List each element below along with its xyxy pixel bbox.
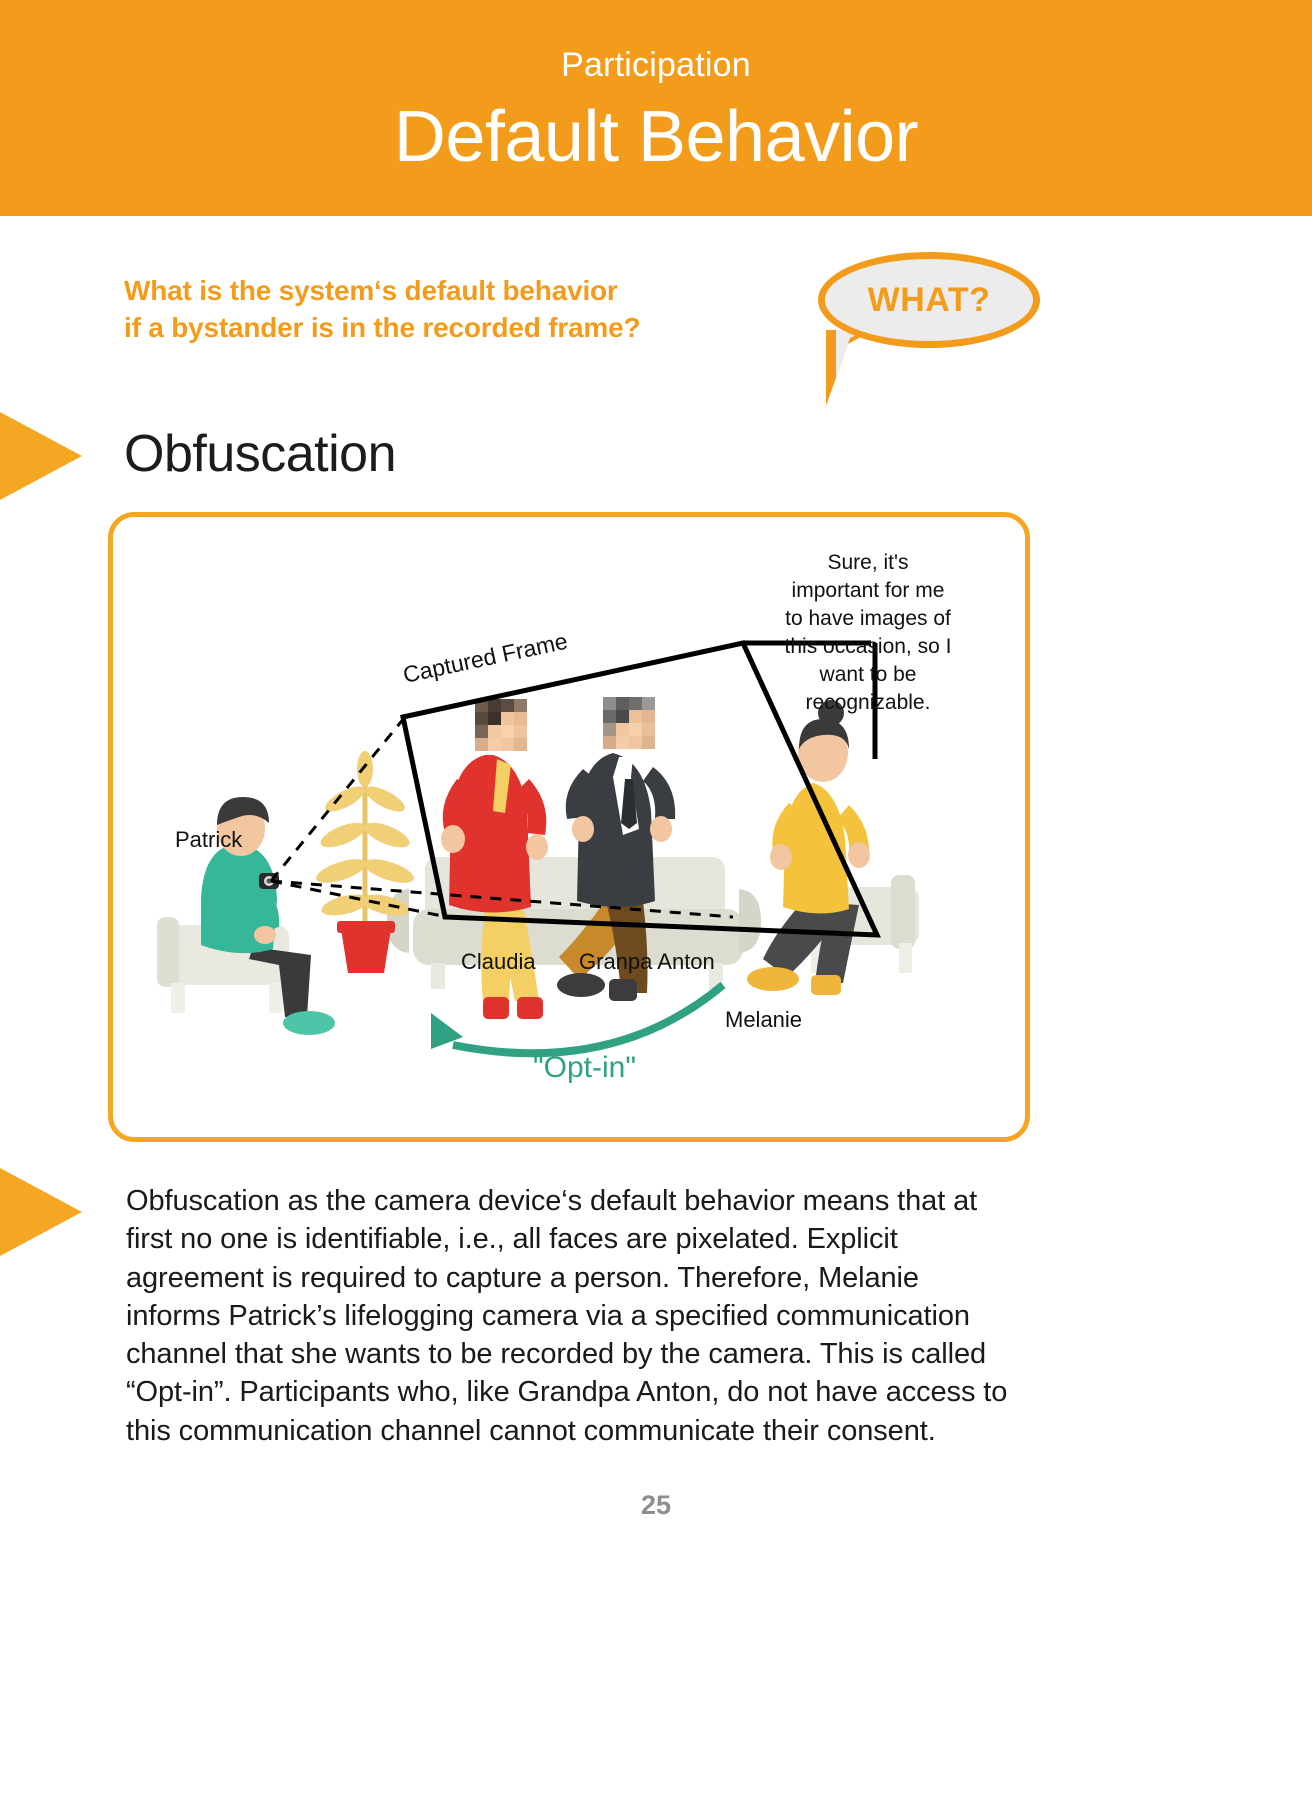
section-heading: Obfuscation — [124, 424, 396, 484]
speech-line-1: Sure, it's — [827, 551, 908, 574]
header-eyebrow: Participation — [561, 48, 751, 82]
page-title: Default Behavior — [394, 100, 918, 176]
question-block: What is the system‘s default behavior if… — [124, 272, 824, 346]
pixelated-face-anton — [603, 697, 655, 749]
body-arrow-icon — [0, 1168, 82, 1256]
page-header: Participation Default Behavior — [0, 0, 1312, 216]
captured-frame-label: Captured Frame — [401, 628, 570, 688]
speech-line-6: recognizable. — [806, 691, 931, 714]
what-speech-bubble: WHAT? — [818, 252, 1040, 348]
what-bubble-label: WHAT? — [868, 281, 991, 320]
section-arrow-icon — [0, 412, 82, 500]
scene-illustration: Captured Frame Sure, it's important for … — [113, 517, 1025, 1137]
opt-in-label: "Opt-in" — [533, 1051, 636, 1084]
melanie-speech-text: Sure, it's important for me to have imag… — [785, 551, 952, 714]
question-line-2: if a bystander is in the recorded frame? — [124, 309, 824, 346]
melanie-figure — [747, 700, 919, 995]
illustration-card: Captured Frame Sure, it's important for … — [108, 512, 1030, 1142]
question-line-1: What is the system‘s default behavior — [124, 272, 824, 309]
label-claudia: Claudia — [461, 949, 536, 974]
body-paragraph: Obfuscation as the camera device‘s defau… — [126, 1182, 1016, 1450]
pixelated-face-claudia — [475, 699, 527, 751]
speech-line-2: important for me — [792, 579, 945, 602]
page-number: 25 — [0, 1490, 1312, 1521]
label-granpa-anton: Granpa Anton — [579, 949, 715, 974]
speech-line-5: want to be — [819, 663, 917, 686]
label-patrick: Patrick — [175, 827, 243, 852]
speech-line-3: to have images of — [785, 607, 951, 630]
label-melanie: Melanie — [725, 1007, 802, 1032]
speech-line-4: this occasion, so I — [785, 635, 952, 658]
